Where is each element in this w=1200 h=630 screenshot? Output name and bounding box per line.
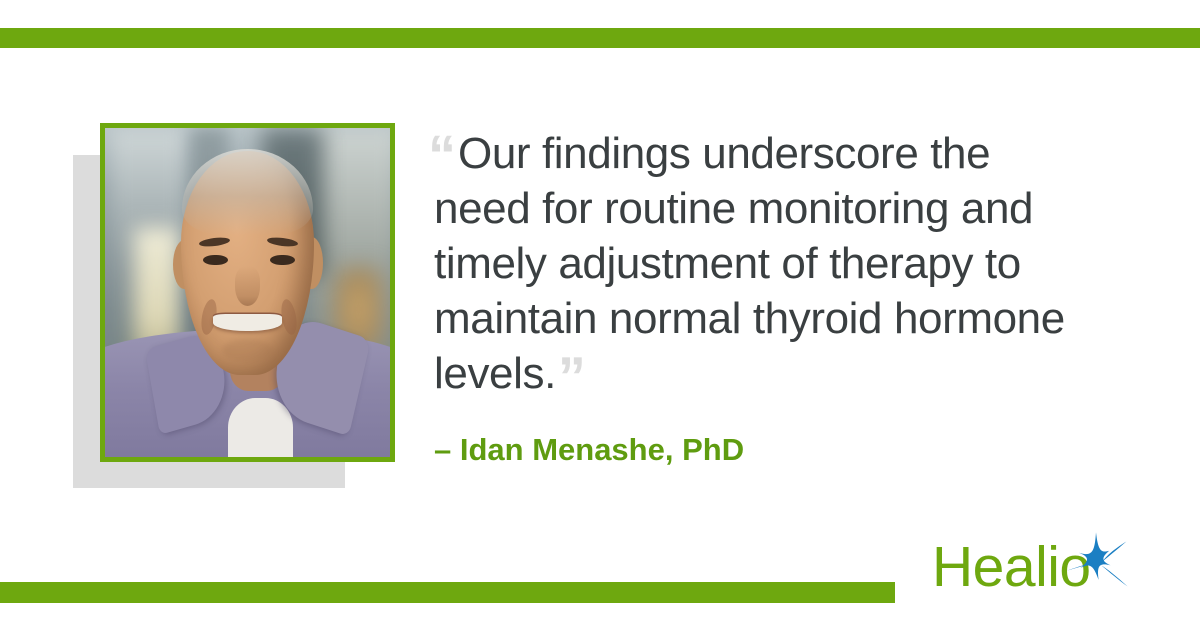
open-quote-mark: “ <box>428 123 454 186</box>
quote-attribution: – Idan Menashe, PhD <box>434 432 744 468</box>
quote-body: Our findings underscore the need for rou… <box>434 129 1065 398</box>
portrait-frame <box>100 123 395 462</box>
sparkle-star-icon <box>1063 531 1129 597</box>
bottom-green-rule <box>0 582 895 603</box>
photo-mouth <box>213 314 281 331</box>
quote-text: “Our findings underscore the need for ro… <box>434 126 1094 401</box>
quote-block: “Our findings underscore the need for ro… <box>434 126 1134 401</box>
photo-eye-left <box>203 255 227 266</box>
close-quote-mark: ” <box>558 345 584 408</box>
portrait-block <box>73 123 383 493</box>
portrait-photo <box>105 128 390 457</box>
quote-card: “Our findings underscore the need for ro… <box>0 0 1200 630</box>
photo-undershirt <box>228 398 294 457</box>
healio-logo[interactable]: Healio <box>930 533 1130 605</box>
photo-nose <box>235 266 261 305</box>
photo-eye-right <box>270 255 294 266</box>
top-green-rule <box>0 28 1200 48</box>
photo-chin <box>222 339 273 362</box>
